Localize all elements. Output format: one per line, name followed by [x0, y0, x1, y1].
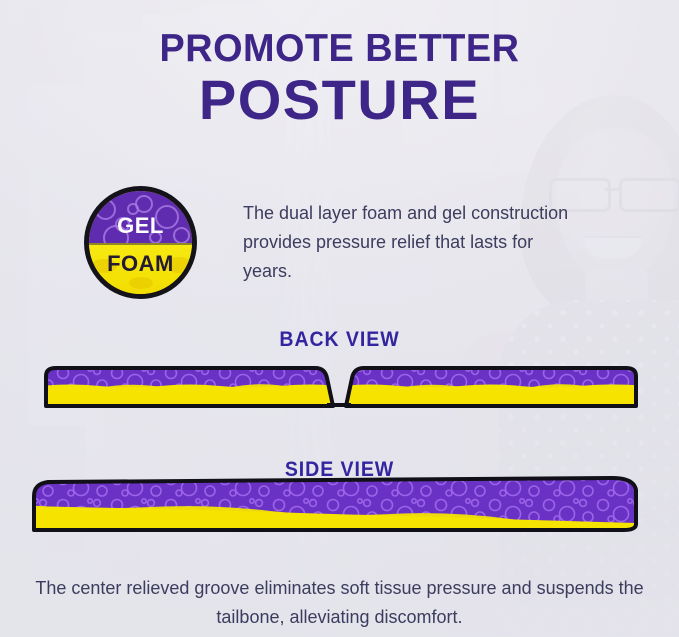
- page-title: PROMOTE BETTER POSTURE: [0, 28, 679, 128]
- photo-face: [556, 128, 674, 278]
- badge-divider: [89, 243, 192, 245]
- glasses-lens-right: [619, 178, 679, 212]
- back-view-diagram: [0, 366, 679, 420]
- title-line-2: POSTURE: [0, 71, 679, 128]
- glasses-bridge: [605, 188, 621, 191]
- back-view-left-segment: [40, 366, 340, 410]
- title-line-1: PROMOTE BETTER: [10, 28, 669, 69]
- back-view-label: BACK VIEW: [24, 328, 655, 352]
- photo-smile: [584, 238, 642, 258]
- intro-paragraph: The dual layer foam and gel construction…: [243, 199, 573, 286]
- bubble-icon: [181, 197, 195, 211]
- badge-gel-label: GEL: [89, 213, 192, 239]
- gel-foam-badge: GEL FOAM: [84, 186, 197, 299]
- side-view-diagram: [0, 472, 679, 544]
- outro-paragraph: The center relieved groove eliminates so…: [0, 574, 679, 632]
- foam-blob: [129, 277, 153, 289]
- badge-foam-label: FOAM: [89, 251, 192, 277]
- infographic-panel: PROMOTE BETTER POSTURE GEL FOAM The dual…: [0, 0, 679, 637]
- center-groove-base: [327, 403, 351, 407]
- photo-neck: [586, 268, 648, 316]
- back-view-right-segment: [340, 366, 650, 410]
